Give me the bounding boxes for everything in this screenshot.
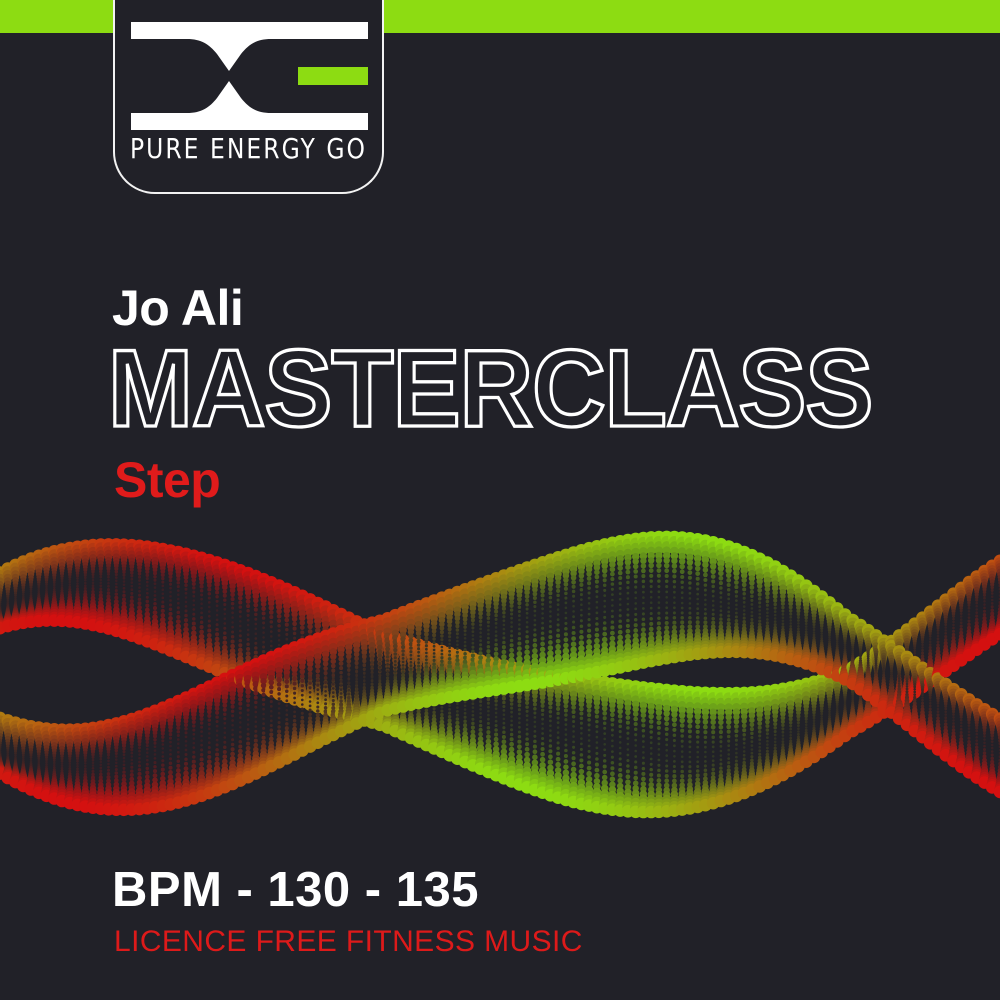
page-title: MASTERCLASS [108,333,872,443]
pure-energy-go-x-mark-icon [131,22,368,130]
licence-label: LICENCE FREE FITNESS MUSIC [114,923,583,961]
brand-wordmark: PURE ENERGY GO [124,132,372,165]
bpm-range-label: BPM - 130 - 135 [112,865,583,916]
brand-logo-plate: PURE ENERGY GO [113,0,384,194]
title-block: Jo Ali MASTERCLASS Step [108,283,843,505]
halftone-sound-wave-graphic [0,490,1000,860]
class-type-subtitle: Step [114,455,843,505]
poster-canvas: PURE ENERGY GO Jo Ali MASTERCLASS Step B… [0,0,1000,1000]
footer-block: BPM - 130 - 135 LICENCE FREE FITNESS MUS… [112,865,583,960]
